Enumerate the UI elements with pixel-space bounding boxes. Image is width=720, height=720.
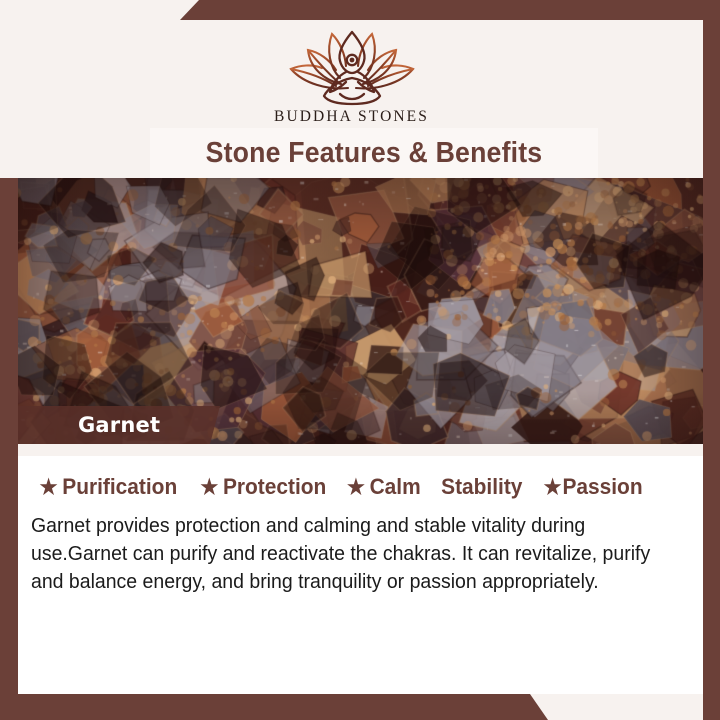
stone-photo <box>0 178 703 444</box>
frame-right-bar <box>703 0 720 720</box>
page-title-band: Stone Features & Benefits <box>150 128 598 178</box>
benefit-label: Calm <box>370 474 421 500</box>
benefit-stability: Stability <box>441 474 522 500</box>
benefit-purification: ★Purification <box>40 474 178 500</box>
stone-features-infographic: BUDDHA STONES Stone Features & Benefits … <box>0 0 720 720</box>
frame-left-bar <box>0 178 18 720</box>
benefit-label: Purification <box>62 474 177 500</box>
star-icon: ★ <box>200 477 218 498</box>
benefit-passion: ★Passion <box>543 474 642 500</box>
stone-name-tag: Garnet <box>18 406 220 444</box>
brand-name: BUDDHA STONES <box>0 108 703 126</box>
benefit-label: Passion <box>562 474 642 500</box>
stone-description: Garnet provides protection and calming a… <box>31 512 664 596</box>
benefit-protection: ★Protection <box>200 474 326 500</box>
star-icon: ★ <box>543 477 561 498</box>
benefit-calm: ★Calm <box>347 474 421 500</box>
benefits-list: ★Purification★Protection★CalmStability★P… <box>36 474 696 500</box>
benefit-label: Stability <box>441 474 522 500</box>
page-title: Stone Features & Benefits <box>206 137 543 170</box>
lotus-meditation-icon <box>278 28 426 106</box>
benefit-label: Protection <box>223 474 326 500</box>
star-icon: ★ <box>347 477 365 498</box>
star-icon: ★ <box>40 477 58 498</box>
garnet-crystal-macro-photo <box>0 178 703 444</box>
stone-name: Garnet <box>78 413 160 437</box>
content-panel: ★Purification★Protection★CalmStability★P… <box>18 444 703 694</box>
brand-logo: BUDDHA STONES <box>0 28 703 126</box>
panel-top-strip <box>18 444 703 456</box>
